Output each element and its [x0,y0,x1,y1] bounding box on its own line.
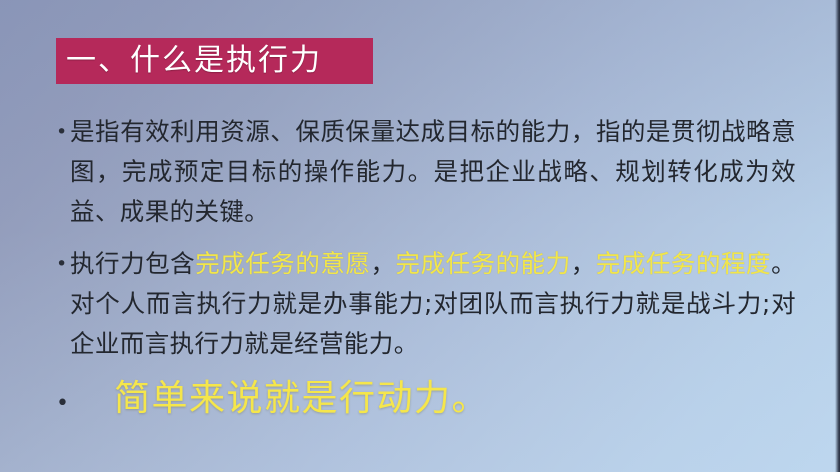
slide-title-banner: 一、什么是执行力 [56,38,373,84]
bullet-paragraph-2: 执行力包含完成任务的意愿，完成任务的能力，完成任务的程度。对个人而言执行力就是办… [70,244,796,364]
text-segment: ， [370,249,395,278]
list-item: • 是指有效利用资源、保质保量达成目标的能力，指的是贯彻战略意图，完成预定目标的… [56,112,796,232]
page-title: 一、什么是执行力 [66,46,322,76]
final-statement-row: • 简单来说就是行动力。 [56,378,489,419]
text-segment: 执行力包含 [70,249,195,278]
highlighted-text-segment: 完成任务的意愿 [195,249,370,278]
bullet-marker-icon: • [56,393,70,415]
text-segment: ， [571,249,596,278]
slide-content: 一、什么是执行力 • 是指有效利用资源、保质保量达成目标的能力，指的是贯彻战略意… [0,0,840,472]
bullet-list: • 是指有效利用资源、保质保量达成目标的能力，指的是贯彻战略意图，完成预定目标的… [56,112,796,370]
bullet-marker-icon: • [56,112,70,152]
list-item: • 执行力包含完成任务的意愿，完成任务的能力，完成任务的程度。对个人而言执行力就… [56,244,796,364]
highlighted-text-segment: 完成任务的能力 [396,249,571,278]
text-segment: 是指有效利用资源、保质保量达成目标的能力，指的是贯彻战略意图，完成预定目标的操作… [70,117,796,226]
highlighted-text-segment: 完成任务的程度 [596,249,771,278]
final-statement-text: 简单来说就是行动力。 [114,378,489,419]
bullet-paragraph-1: 是指有效利用资源、保质保量达成目标的能力，指的是贯彻战略意图，完成预定目标的操作… [70,112,796,232]
slide-canvas: 一、什么是执行力 • 是指有效利用资源、保质保量达成目标的能力，指的是贯彻战略意… [0,0,840,472]
bullet-marker-icon: • [56,244,70,284]
